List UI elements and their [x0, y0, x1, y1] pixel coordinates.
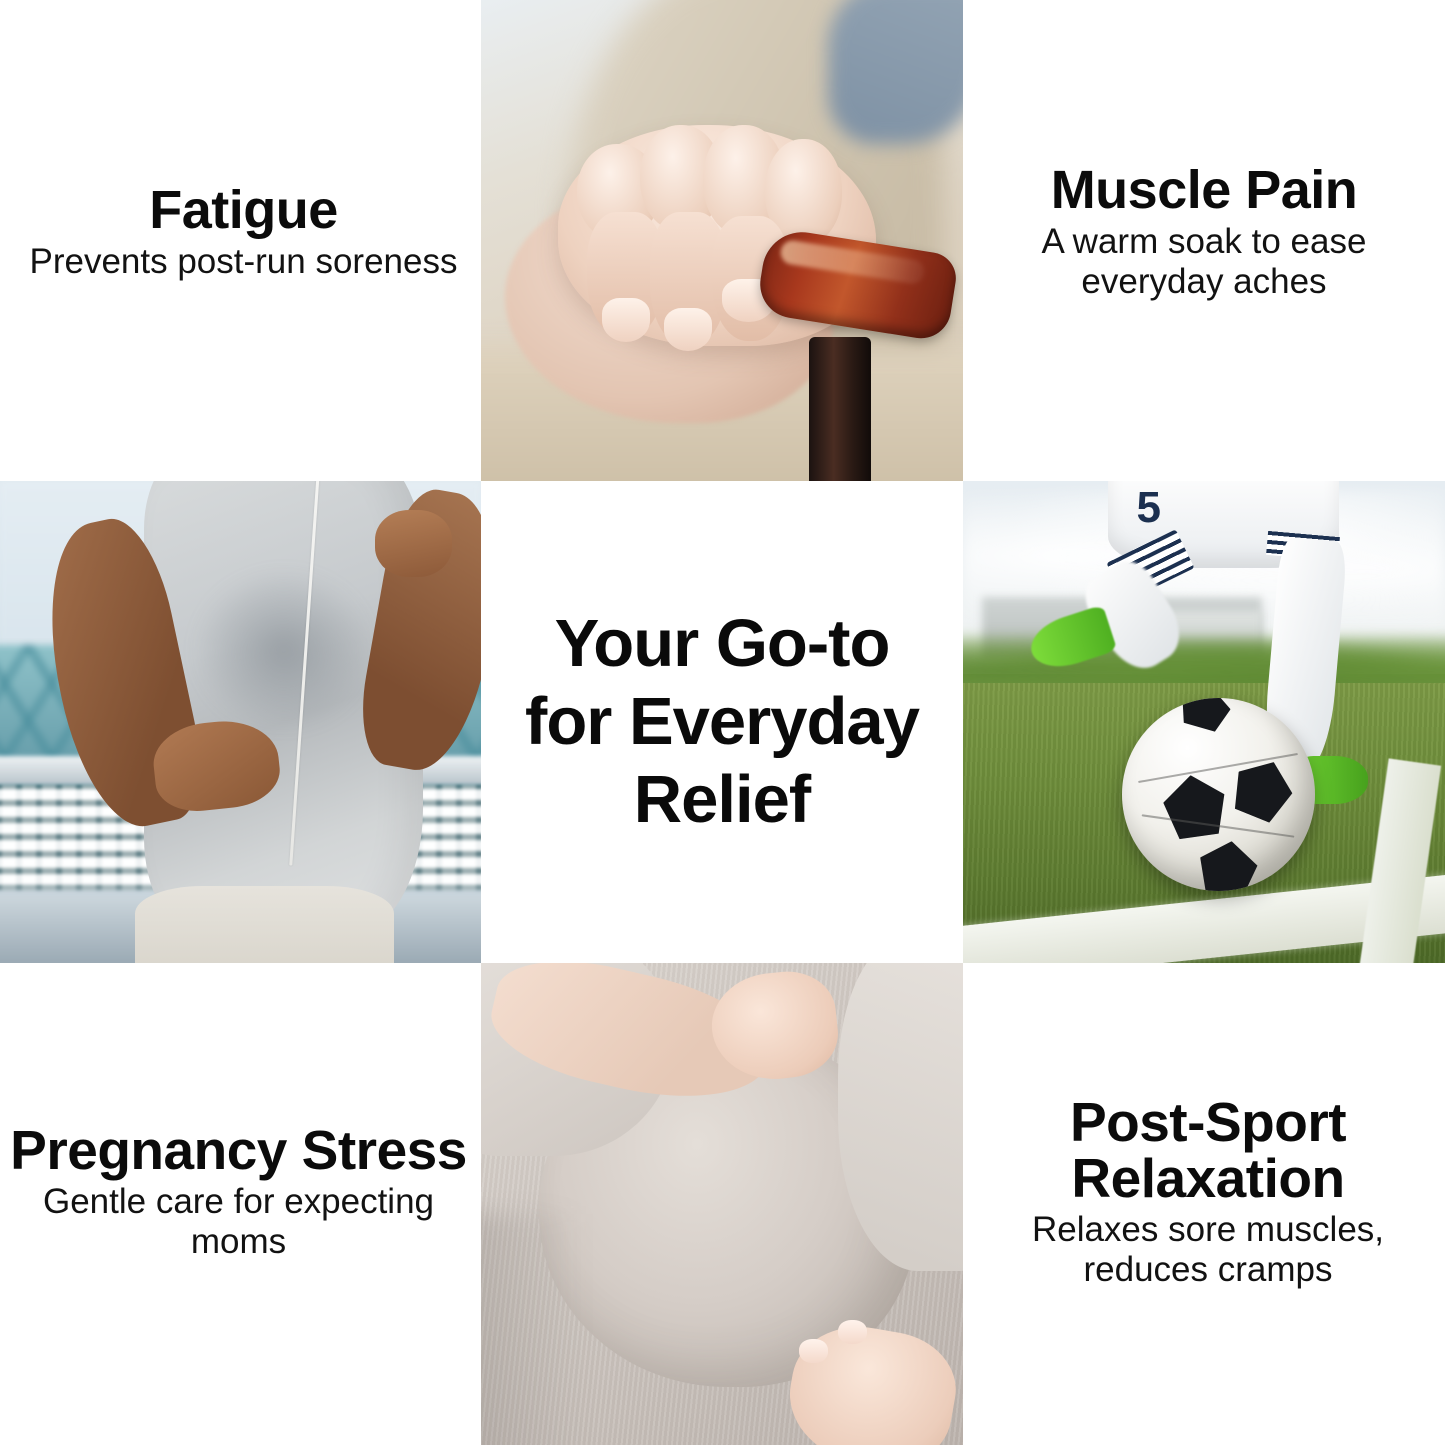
collage-board: Fatigue Prevents post-run soreness: [0, 0, 1445, 1445]
fingernail: [838, 1320, 867, 1344]
benefit-subtext-pregnancy-stress: Gentle care for expecting moms: [2, 1182, 475, 1262]
benefit-headline-fatigue: Fatigue: [30, 183, 458, 238]
benefit-text-block: Pregnancy Stress Gentle care for expecti…: [2, 1122, 475, 1262]
center-headline-cell: Your Go-to for Everyday Relief: [481, 481, 963, 963]
benefit-headline-pregnancy-stress: Pregnancy Stress: [2, 1122, 475, 1178]
runner-shorts: [135, 886, 395, 963]
benefit-card-pregnancy-stress: Pregnancy Stress Gentle care for expecti…: [0, 963, 481, 1445]
benefit-card-post-sport-relaxation: Post-Sport Relaxation Relaxes sore muscl…: [963, 963, 1445, 1445]
benefit-text-block: Post-Sport Relaxation Relaxes sore muscl…: [971, 1094, 1445, 1290]
ball-panel: [1196, 837, 1261, 891]
ball-panel: [1175, 698, 1235, 735]
soccer-player-with-ball-photo: 5: [963, 481, 1445, 963]
benefit-headline-post-sport-relaxation: Post-Sport Relaxation: [971, 1094, 1445, 1206]
ball-panel: [1160, 771, 1230, 841]
cane-shaft: [809, 337, 872, 481]
benefit-subtext-fatigue: Prevents post-run soreness: [30, 242, 458, 282]
shirt-collar: [828, 0, 963, 144]
photo-cell-soccer: 5: [963, 481, 1445, 963]
photo-cell-runner: [0, 481, 481, 963]
runner-holding-side-photo: [0, 481, 481, 963]
soft-shadow: [481, 1214, 616, 1445]
soccer-ball: [1122, 698, 1315, 891]
fingernail: [602, 298, 650, 341]
sweat-patch: [192, 568, 375, 732]
elderly-hands-on-cane-photo: [481, 0, 963, 481]
runner-hand-at-chest: [375, 510, 452, 577]
pregnant-woman-holding-belly-photo: [481, 963, 963, 1445]
benefit-text-block: Muscle Pain A warm soak to ease everyday…: [967, 163, 1441, 302]
benefit-subtext-muscle-pain: A warm soak to ease everyday aches: [967, 222, 1441, 302]
benefit-text-block: Fatigue Prevents post-run soreness: [30, 183, 458, 282]
benefit-headline-muscle-pain: Muscle Pain: [967, 163, 1441, 218]
ball-panel: [1225, 751, 1300, 826]
benefit-subtext-post-sport-relaxation: Relaxes sore muscles, reduces cramps: [971, 1210, 1445, 1290]
benefit-card-fatigue: Fatigue Prevents post-run soreness: [0, 0, 481, 481]
photo-cell-pregnancy: [481, 963, 963, 1445]
center-headline: Your Go-to for Everyday Relief: [512, 605, 932, 838]
fingernail: [799, 1339, 828, 1363]
benefit-card-muscle-pain: Muscle Pain A warm soak to ease everyday…: [963, 0, 1445, 481]
photo-cell-elderly-hands: [481, 0, 963, 481]
